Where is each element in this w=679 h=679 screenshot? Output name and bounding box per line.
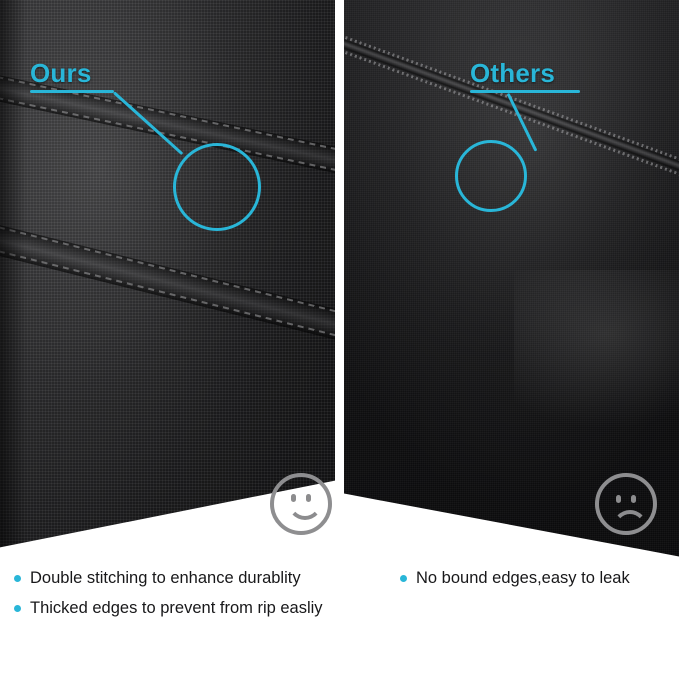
list-item: Double stitching to enhance durablity [14, 568, 334, 589]
bullet-dot-icon [400, 575, 407, 582]
smiley-face-icon [270, 473, 332, 535]
bullet-dot-icon [14, 605, 21, 612]
caption-column-divider [339, 562, 342, 679]
bullet-dot-icon [14, 575, 21, 582]
right-circle-highlight [455, 140, 527, 212]
right-callout-label: Others [470, 58, 555, 89]
frown-right-eye [631, 495, 636, 503]
smiley-mouth [287, 501, 323, 520]
left-bullet-1-text: Double stitching to enhance durablity [30, 568, 301, 589]
list-item: No bound edges,easy to leak [400, 568, 670, 589]
list-item: Thicked edges to prevent from rip easliy [14, 598, 334, 619]
left-bullet-2-text: Thicked edges to prevent from rip easliy [30, 598, 323, 619]
frowning-face-icon [595, 473, 657, 535]
right-fabric-highlight [514, 270, 679, 430]
frown-left-eye [616, 495, 621, 503]
right-bullet-list: No bound edges,easy to leak [400, 568, 670, 598]
right-bullet-1-text: No bound edges,easy to leak [416, 568, 630, 589]
left-callout-label: Ours [30, 58, 91, 89]
comparison-infographic: Ours Others Double stitching to enhance … [0, 0, 679, 679]
left-bullet-list: Double stitching to enhance durablity Th… [14, 568, 334, 628]
right-callout-underline [470, 90, 580, 93]
left-callout-underline [30, 90, 114, 93]
left-circle-highlight [173, 143, 261, 231]
frown-mouth [612, 510, 648, 529]
